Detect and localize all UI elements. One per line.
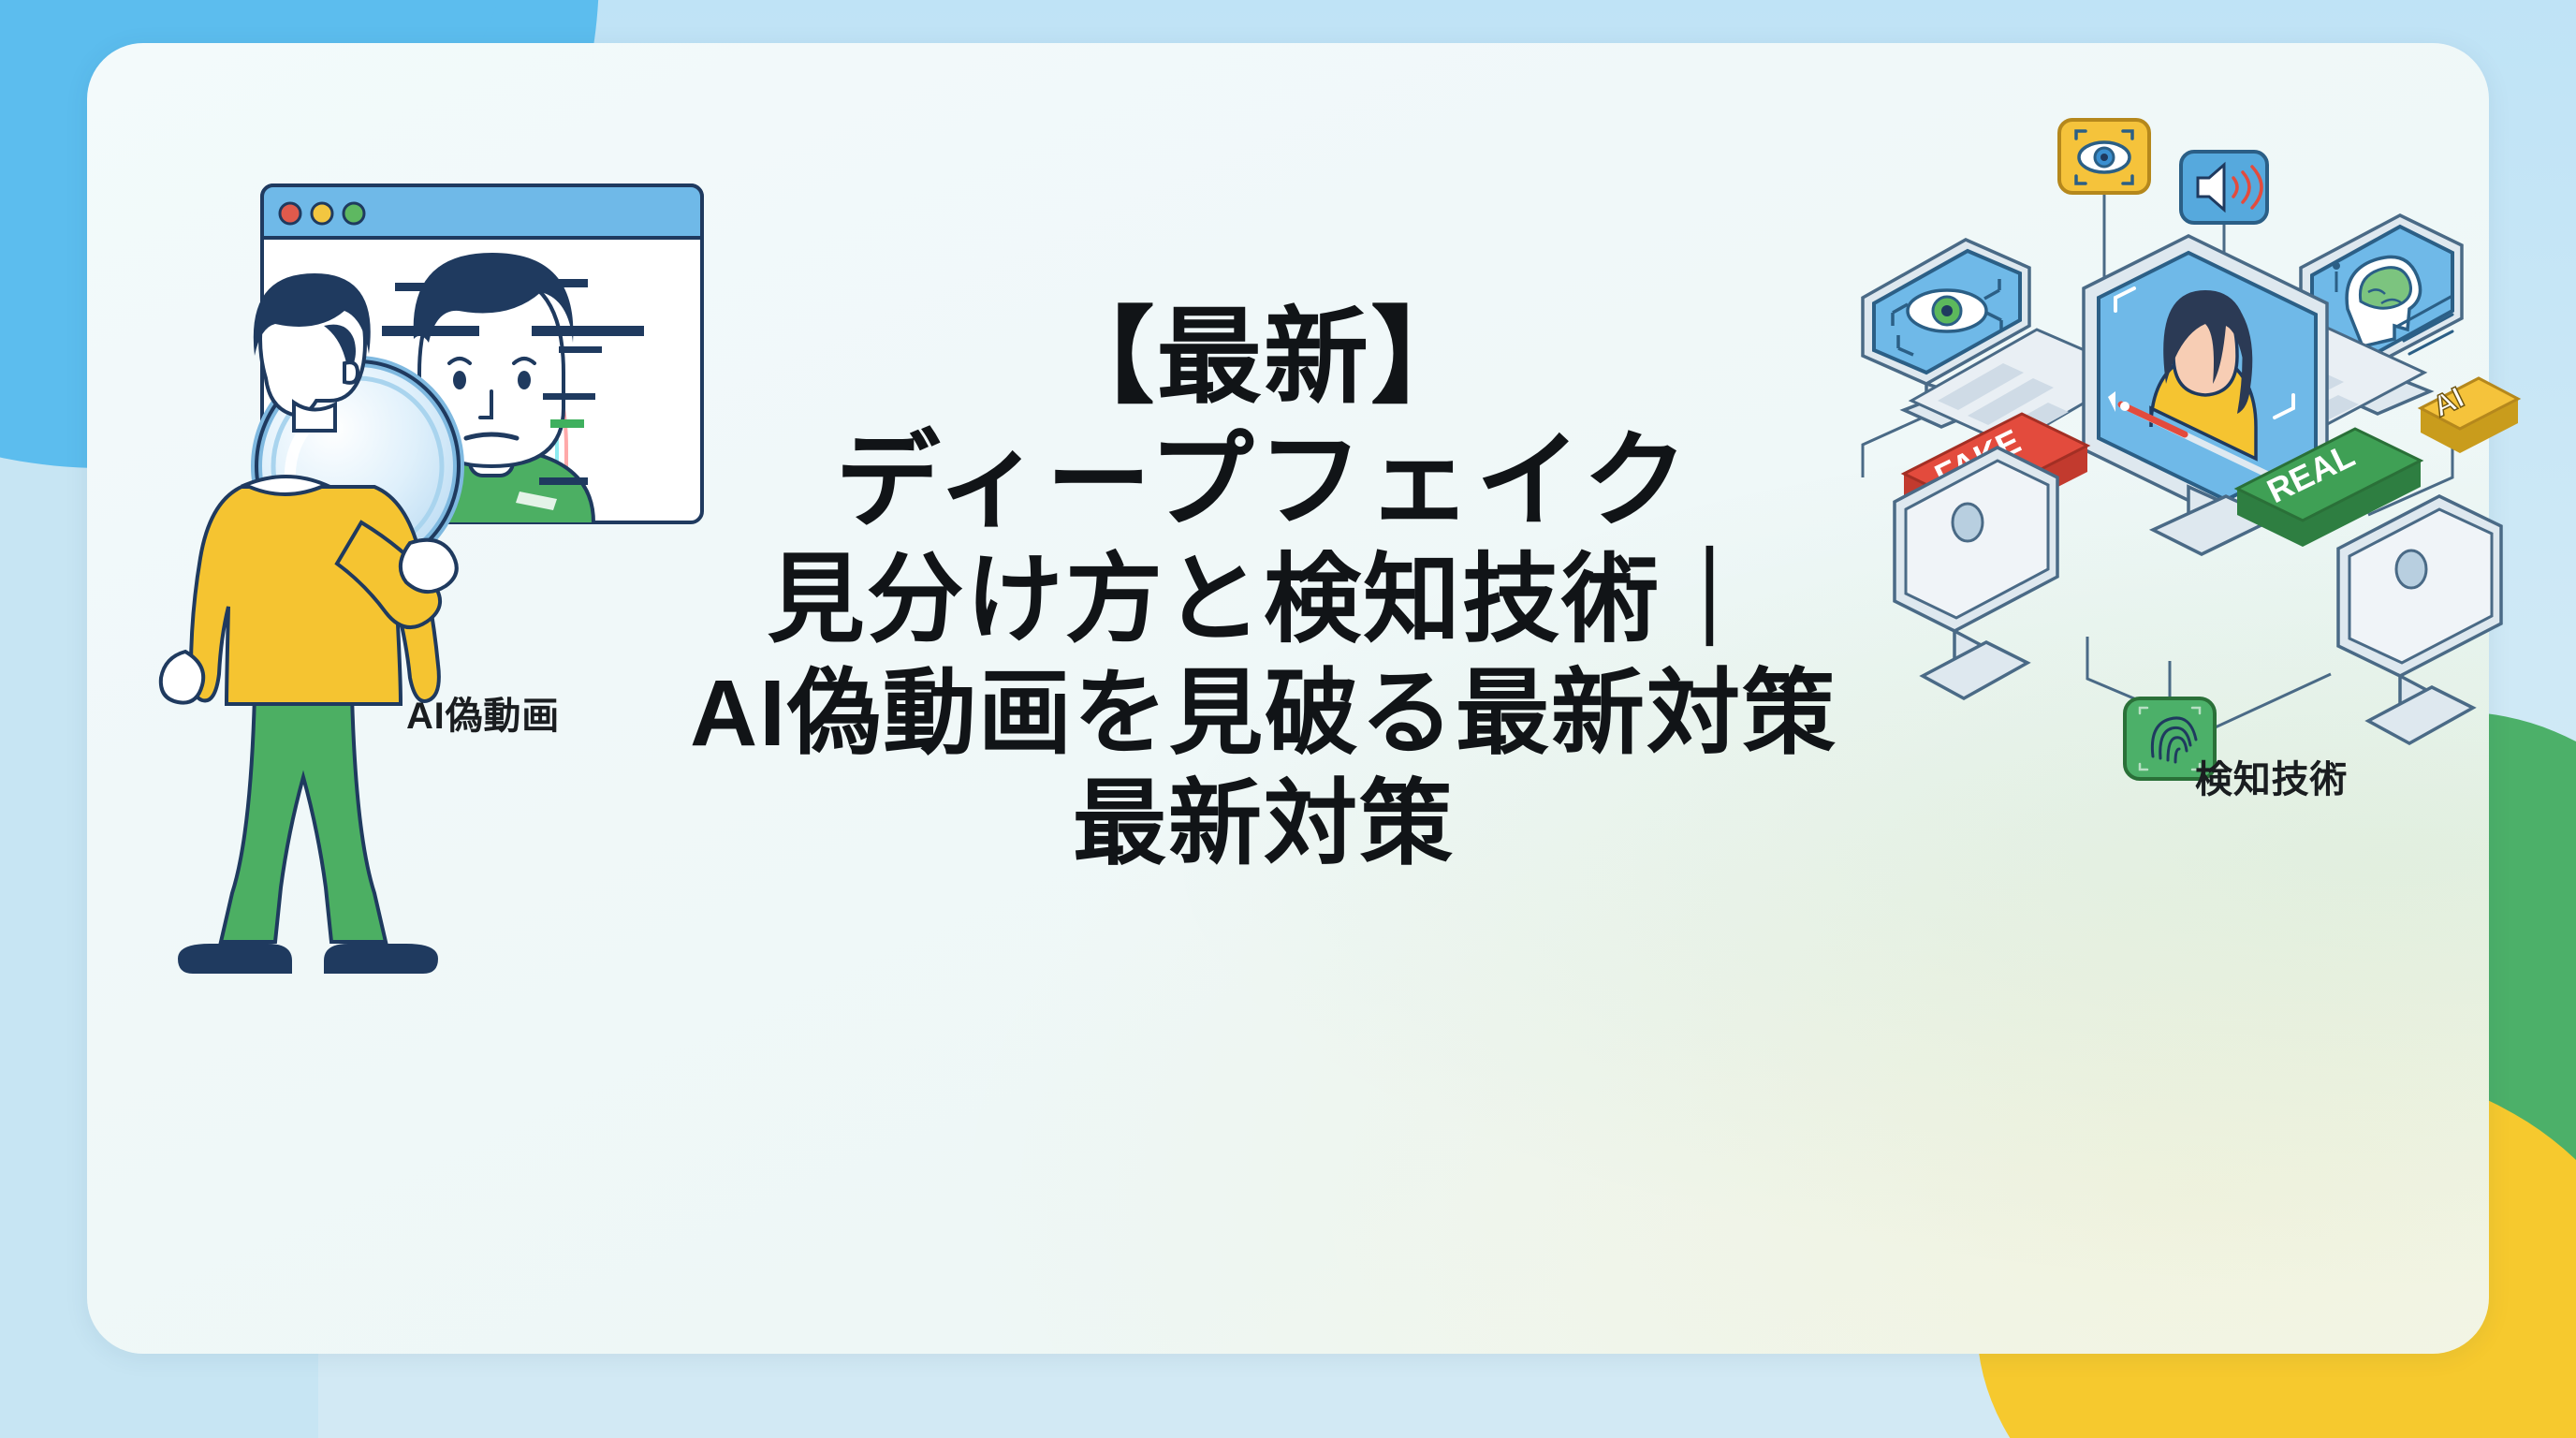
- title-line-2: ディープフェイク: [487, 419, 2041, 543]
- caption-detection-technology: 検知技術: [2195, 749, 2348, 803]
- title-line-3: 見分け方と検知技術｜: [487, 543, 2041, 658]
- window-dot-yellow: [312, 203, 332, 224]
- audio-wave-icon: [2181, 152, 2267, 223]
- eye-scan-icon: [2059, 120, 2149, 193]
- title-line-4: AI偽動画を見破る最新対策: [487, 658, 2041, 769]
- monitor-blank-right: [2338, 496, 2501, 743]
- title-line-5: 最新対策: [487, 769, 2041, 879]
- page-title: 【最新】 ディープフェイク 見分け方と検知技術｜ AI偽動画を見破る最新対策 最…: [487, 296, 2041, 879]
- window-dot-red: [280, 203, 300, 224]
- title-line-1: 【最新】: [487, 296, 2041, 419]
- badge-ai: AI: [2421, 378, 2518, 453]
- caption-ai-fake-video: AI偽動画: [406, 685, 560, 740]
- window-dot-green: [344, 203, 364, 224]
